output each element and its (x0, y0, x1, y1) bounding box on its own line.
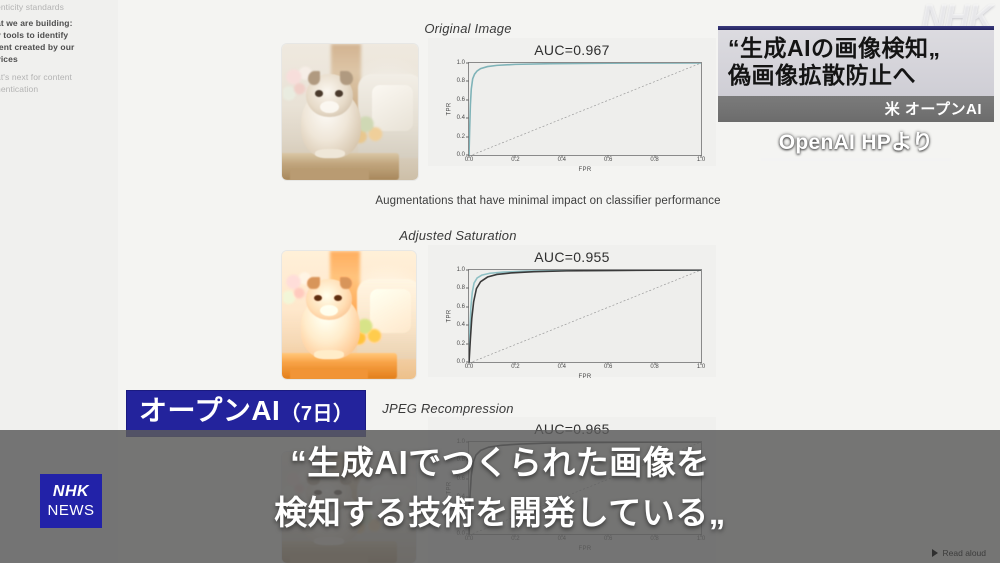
roc-curves-original (469, 63, 701, 156)
ytick-original-1: 0.2 (457, 134, 465, 140)
sidebar-line-6: hentication (0, 84, 118, 95)
original-cat-image (282, 44, 418, 180)
ytick-saturation-1: 0.2 (457, 341, 465, 347)
ylabel-original: TPR (446, 103, 452, 116)
xtick-saturation-0: 0.0 (465, 364, 473, 370)
xtick-original-1: 0.2 (511, 157, 519, 163)
subtitle-line-1: “生成AIでつくられた画像を (0, 444, 1000, 482)
ytick-saturation-4: 0.8 (457, 285, 465, 291)
read-aloud-button[interactable]: Read aloud (932, 548, 986, 558)
news-title-banner: “生成AIの画像検知„ 偽画像拡散防止へ 米 オープンAI OpenAI HPよ… (718, 26, 994, 161)
auc-label-saturation: AUC=0.955 (428, 249, 716, 265)
chart-title-saturation: Adjusted Saturation (328, 228, 588, 243)
auc-label-original: AUC=0.967 (428, 42, 716, 58)
banner-subtitle-box: 米 オープンAI (718, 96, 994, 122)
figure-caption: Augmentations that have minimal impact o… (218, 195, 878, 207)
roc-chart-original: AUC=0.967 1.0 0.8 0.6 0.4 0.2 0.0 0.0 0.… (428, 38, 716, 166)
xtick-saturation-5: 1.0 (697, 364, 705, 370)
chart-title-original: Original Image (338, 21, 598, 36)
banner-title-line2: 偽画像拡散防止へ (728, 62, 984, 89)
subtitle-line-2: 検知する技術を開発している„ (0, 494, 1000, 532)
ylabel-saturation: TPR (446, 310, 452, 323)
sidebar-line-3: tent created by our (0, 42, 118, 53)
banner-subtitle-text: 米 オープンAI (885, 101, 982, 118)
xtick-original-5: 1.0 (697, 157, 705, 163)
banner-source-text: OpenAI HPより (718, 126, 994, 156)
ytick-saturation-2: 0.4 (457, 322, 465, 328)
xlabel-original: FPR (469, 167, 701, 173)
ytick-saturation-3: 0.6 (457, 304, 465, 310)
nhk-news-logo-line1: NHK (53, 484, 89, 500)
xlabel-saturation: FPR (469, 374, 701, 380)
plot-axes-original: 1.0 0.8 0.6 0.4 0.2 0.0 0.0 0.2 0.4 0.6 … (468, 62, 702, 156)
xtick-original-4: 0.8 (650, 157, 658, 163)
speaker-name: オープンAI (139, 395, 280, 426)
xtick-saturation-3: 0.6 (604, 364, 612, 370)
xtick-original-0: 0.0 (465, 157, 473, 163)
ytick-original-3: 0.6 (457, 97, 465, 103)
plot-axes-saturation: 1.0 0.8 0.6 0.4 0.2 0.0 0.0 0.2 0.4 0.6 … (468, 269, 702, 363)
xtick-saturation-1: 0.2 (511, 364, 519, 370)
banner-title-box: “生成AIの画像検知„ 偽画像拡散防止へ (718, 30, 994, 96)
sidebar-line-2: v tools to identify (0, 30, 118, 41)
roc-chart-saturation: AUC=0.955 1.0 0.8 0.6 0.4 0.2 0.0 0.0 0.… (428, 245, 716, 377)
ytick-saturation-0: 0.0 (457, 359, 465, 365)
ytick-original-4: 0.8 (457, 78, 465, 84)
roc-curves-saturation (469, 270, 701, 363)
ytick-saturation-5: 1.0 (457, 267, 465, 273)
nhk-news-logo: NHK NEWS (40, 474, 102, 528)
xtick-original-2: 0.4 (558, 157, 566, 163)
sidebar-line-0: enticity standards (0, 2, 118, 13)
speaker-date: （7日） (280, 403, 353, 425)
xtick-saturation-4: 0.8 (650, 364, 658, 370)
play-triangle-icon (932, 549, 938, 557)
sidebar-line-5: at's next for content (0, 72, 118, 83)
ytick-original-5: 1.0 (457, 60, 465, 66)
banner-title-line1: “生成AIの画像検知„ (728, 35, 984, 62)
broadcast-screen: enticity standards at we are building: v… (0, 0, 1000, 563)
nhk-news-logo-line2: NEWS (48, 503, 95, 518)
sidebar-line-1: at we are building: (0, 18, 118, 29)
xtick-saturation-2: 0.4 (558, 364, 566, 370)
sidebar-line-4: vices (0, 54, 118, 65)
xtick-original-3: 0.6 (604, 157, 612, 163)
ytick-original-2: 0.4 (457, 115, 465, 121)
ytick-original-0: 0.0 (457, 152, 465, 158)
saturated-cat-image (282, 251, 416, 379)
banner-source-underline (761, 158, 951, 161)
read-aloud-label: Read aloud (943, 548, 986, 558)
